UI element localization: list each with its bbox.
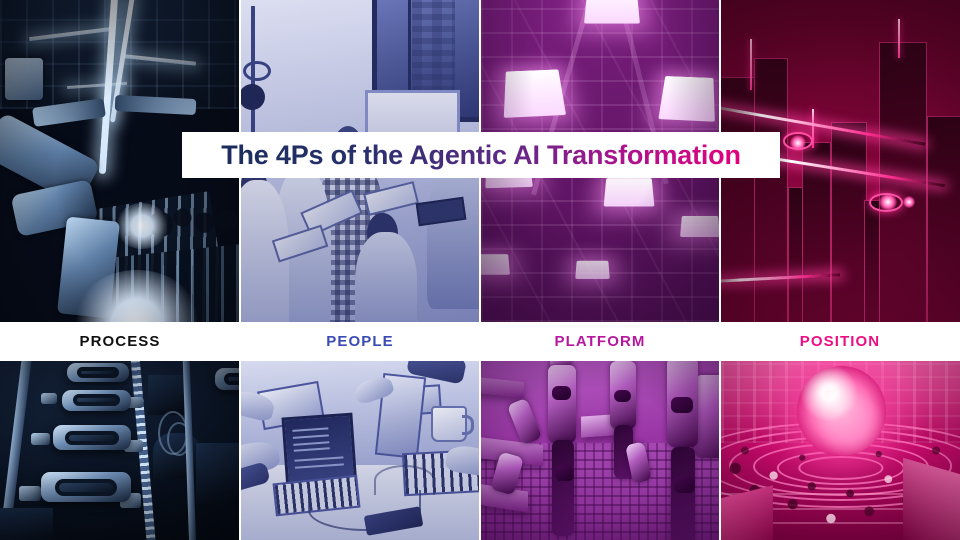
- slide-canvas: PROCESS PEOPLE PLATFORM POSITION: [0, 0, 960, 540]
- page-title: The 4Ps of the Agentic AI Transformation: [221, 140, 741, 171]
- pillar-label-platform: PLATFORM: [480, 322, 720, 361]
- image-tile-people-bottom: [241, 361, 479, 540]
- title-plate: The 4Ps of the Agentic AI Transformation: [182, 132, 780, 178]
- image-tile-platform-bottom: [481, 361, 719, 540]
- pillar-label-people: PEOPLE: [240, 322, 480, 361]
- pillar-label-process: PROCESS: [0, 322, 240, 361]
- image-tile-process-bottom: [0, 361, 239, 540]
- pillar-label-position: POSITION: [720, 322, 960, 361]
- image-tile-position-bottom: [721, 361, 960, 540]
- pillar-label-band: PROCESS PEOPLE PLATFORM POSITION: [0, 322, 960, 361]
